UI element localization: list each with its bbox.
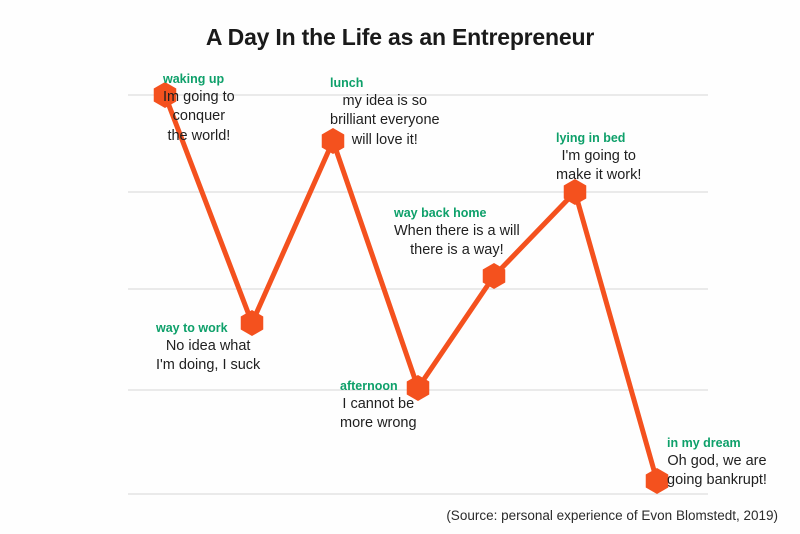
annotation-text-line: I'm going to (556, 147, 641, 167)
annotation-text-line: conquer (163, 107, 235, 127)
annotation-text-line: brilliant everyone (330, 111, 440, 131)
annotation: afternoonI cannot bemore wrong (340, 379, 417, 434)
annotation: lying in bedI'm going tomake it work! (556, 131, 641, 186)
annotation-text-line: I'm doing, I suck (156, 356, 260, 376)
annotation: way to workNo idea whatI'm doing, I suck (156, 321, 260, 376)
chart-container: A Day In the Life as an Entrepreneur wak… (0, 0, 800, 534)
annotation-label: afternoon (340, 379, 417, 395)
annotation-text-line: going bankrupt! (667, 471, 767, 491)
annotation-label: lunch (330, 76, 440, 92)
data-point-marker[interactable] (646, 468, 669, 494)
annotation-text-line: the world! (163, 127, 235, 147)
annotation-label: waking up (163, 72, 235, 88)
annotation-text-line: make it work! (556, 166, 641, 186)
annotation: waking upIm going toconquerthe world! (163, 72, 235, 146)
annotation-text-line: Oh god, we are (667, 452, 767, 472)
annotation-text-line: When there is a will (394, 222, 520, 242)
annotation-text-line: will love it! (330, 131, 440, 151)
annotation-label: in my dream (667, 436, 767, 452)
annotation: lunchmy idea is sobrilliant everyonewill… (330, 76, 440, 150)
annotation-text-line: Im going to (163, 88, 235, 108)
annotation-text-line: more wrong (340, 414, 417, 434)
annotation-label: way back home (394, 206, 520, 222)
annotation: in my dreamOh god, we aregoing bankrupt! (667, 436, 767, 491)
annotation-text-line: there is a way! (394, 241, 520, 261)
annotation-label: way to work (156, 321, 260, 337)
annotation-text-line: No idea what (156, 337, 260, 357)
annotation-text-line: my idea is so (330, 92, 440, 112)
source-caption: (Source: personal experience of Evon Blo… (446, 508, 778, 523)
annotation: way back homeWhen there is a willthere i… (394, 206, 520, 261)
annotation-label: lying in bed (556, 131, 641, 147)
annotation-text-line: I cannot be (340, 395, 417, 415)
